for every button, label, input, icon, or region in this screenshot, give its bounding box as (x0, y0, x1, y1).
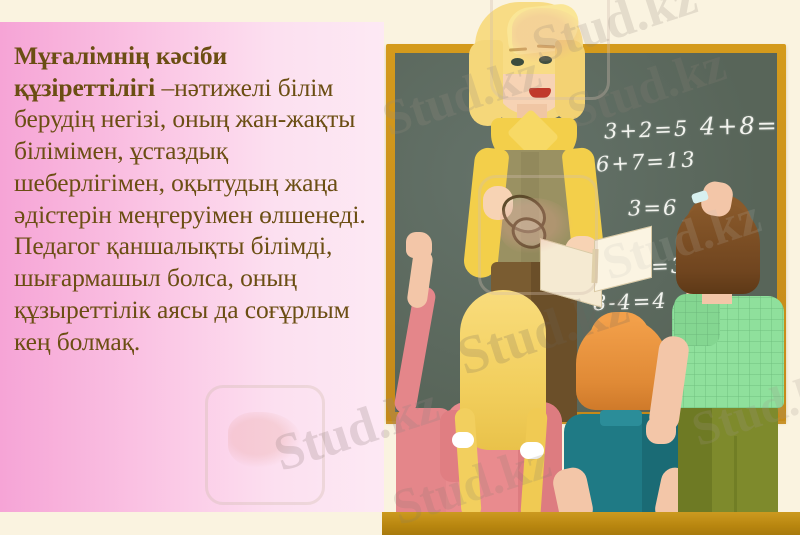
chalk-equation: 4+8= (700, 111, 779, 140)
teacher-hair-side-right (555, 40, 585, 120)
student-a-hand (406, 232, 432, 258)
chalk-equation: 3+2=5 (604, 117, 690, 144)
teacher-eye-right (539, 56, 552, 64)
student-boy-writing-on-board (672, 186, 792, 535)
teacher-mouth (529, 88, 551, 98)
text-panel: Мұғалімнің кәсіби құзіреттілігі –нәтижел… (0, 22, 384, 512)
book-spine (591, 249, 598, 283)
chalk-equation: 3=6 (628, 196, 679, 221)
student-d-hand-down (646, 416, 676, 444)
teacher-hair-side-left (469, 40, 503, 126)
panel-paragraph: Мұғалімнің кәсіби құзіреттілігі –нәтижел… (14, 40, 372, 357)
book-page-right (594, 226, 652, 292)
chalk-ledge (382, 512, 800, 535)
slide-canvas: 3+2=5 6+7=13 3=6 10-7=3 8-4=4 4+8= (0, 0, 800, 535)
student-girl-with-braids (440, 290, 570, 535)
student-b-bow-right (520, 442, 544, 459)
panel-body-text: –нәтижелі білім берудің негізі, оның жан… (14, 73, 366, 356)
student-b-bow-left (452, 432, 474, 448)
student-c-collar (600, 410, 642, 426)
teacher-eye-left (511, 58, 524, 66)
